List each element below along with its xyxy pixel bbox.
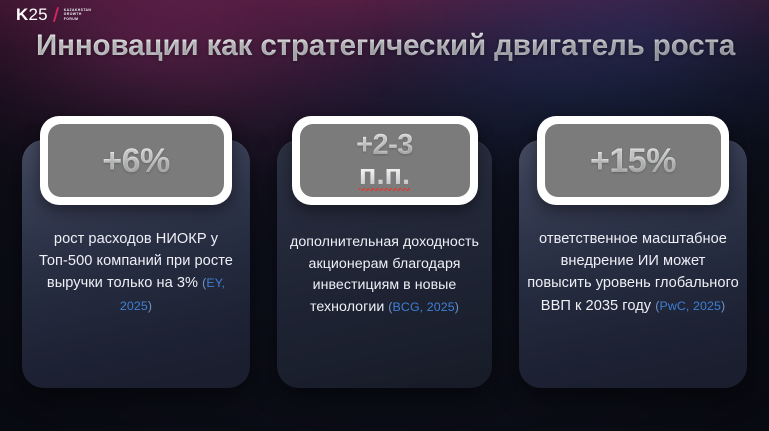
stat-card-description-2: дополнительная доходность акционерам бла…: [285, 232, 484, 318]
logo-wordmark-25: 25: [28, 5, 47, 24]
stat-card-row: +6% рост расходов НИОКР у Топ-500 компан…: [0, 140, 769, 390]
stat-badge-frame-3: +15%: [537, 116, 729, 205]
stat-card-2: +2-3 п.п. дополнительная доходность акци…: [277, 140, 492, 388]
slide-title: Инновации как стратегический двигатель р…: [36, 27, 748, 65]
citation-source-2: BCG, 2025: [393, 300, 455, 314]
stat-badge-unit-2: п.п.: [359, 161, 410, 191]
stat-badge-value-1: +6%: [102, 144, 170, 178]
citation-source-3: PwC, 2025: [659, 299, 721, 313]
stat-badge-value-2: +2-3: [356, 131, 413, 161]
stat-card-description-3: ответственное масштабное внедрение ИИ мо…: [527, 228, 739, 317]
logo-subtitle: KAZAKHSTAN GROWTH FORUM: [64, 8, 92, 21]
logo-wordmark-k: K: [16, 5, 28, 24]
stat-badge-3: +15%: [545, 124, 721, 197]
logo-subtitle-line-3: FORUM: [64, 17, 92, 21]
stat-card-citation-2: (BCG, 2025): [388, 300, 459, 314]
stat-badge-1: +6%: [48, 124, 224, 197]
citation-close-paren-1: ): [148, 299, 152, 313]
slash-divider-icon: [53, 7, 59, 22]
citation-close-paren-3: ): [721, 299, 725, 313]
logo-subtitle-line-1: KAZAKHSTAN: [64, 8, 92, 12]
stat-card-citation-3: (PwC, 2025): [655, 299, 725, 313]
stat-badge-frame-1: +6%: [40, 116, 232, 205]
slide-canvas: K25 KAZAKHSTAN GROWTH FORUM Инновации ка…: [0, 0, 769, 431]
stat-badge-value-3: +15%: [590, 144, 676, 178]
stat-badge-frame-2: +2-3 п.п.: [292, 116, 478, 205]
stat-card-1: +6% рост расходов НИОКР у Топ-500 компан…: [22, 140, 250, 388]
stat-badge-2: +2-3 п.п.: [300, 124, 470, 197]
brand-logo: K25 KAZAKHSTAN GROWTH FORUM: [16, 6, 91, 23]
stat-card-3: +15% ответственное масштабное внедрение …: [519, 140, 747, 388]
citation-close-paren-2: ): [455, 300, 459, 314]
stat-card-description-1: рост расходов НИОКР у Топ-500 компаний п…: [30, 228, 242, 317]
logo-subtitle-line-2: GROWTH: [64, 12, 92, 16]
logo-wordmark: K25: [16, 6, 48, 23]
